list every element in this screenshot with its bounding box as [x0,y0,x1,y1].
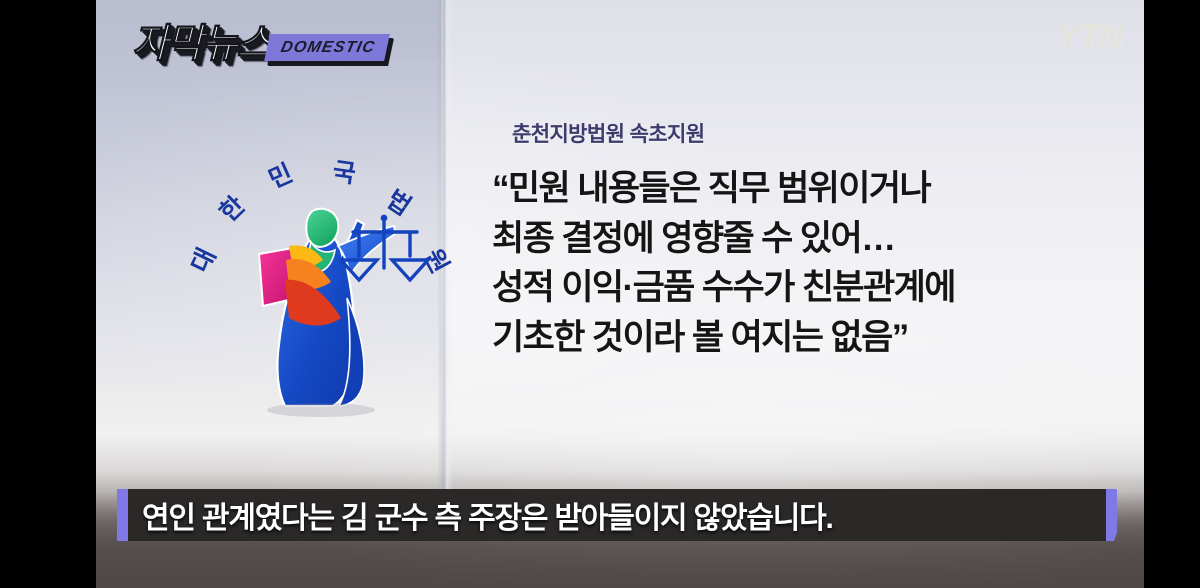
program-logo: 자막뉴스 DOMESTIC [132,22,387,66]
subtitle-body: 연인 관계였다는 김 군수 측 주장은 받아들이지 않았습니다. [128,489,1106,541]
program-logo-badge-wrap: DOMESTIC [267,34,387,61]
quote-line: 최종 결정에 영향줄 수 있어… [492,214,1112,264]
emblem-ground-shadow [267,403,375,417]
subtitle-bar: 연인 관계였다는 김 군수 측 주장은 받아들이지 않았습니다. [117,489,1117,541]
court-statement-quote: 춘천지방법원 속초지원 “민원 내용들은 직무 범위이거나 최종 결정에 영향줄… [492,118,1112,363]
broadcast-screenshot: YTN 자막뉴스 DOMESTIC [0,0,1200,588]
program-logo-title: 자막뉴스 [132,22,271,66]
quote-line: 기초한 것이라 볼 여지는 없음” [492,313,1112,363]
korean-courts-emblem-icon: 대 한 민 국 법 원 [181,148,461,418]
ytn-watermark-logo: YTN [1057,18,1122,57]
svg-text:한: 한 [214,190,251,227]
svg-text:민: 민 [264,158,297,194]
subtitle-accent-left [117,489,128,541]
subtitle-text: 연인 관계였다는 김 군수 측 주장은 받아들이지 않았습니다. [142,493,833,537]
program-logo-badge: DOMESTIC [264,34,390,61]
svg-text:국: 국 [331,157,358,189]
quote-line: “민원 내용들은 직무 범위이거나 [492,164,1112,214]
letterbox-right [1144,0,1200,588]
letterbox-left [0,0,96,588]
emblem-scale-top-knob [381,215,388,222]
svg-text:대: 대 [185,244,221,277]
video-frame: YTN 자막뉴스 DOMESTIC [96,0,1144,588]
quote-line: 성적 이익·금품 수수가 친분관계에 [492,263,1112,313]
subtitle-accent-right [1106,489,1117,541]
quote-source-label: 춘천지방법원 속초지원 [512,118,1112,148]
